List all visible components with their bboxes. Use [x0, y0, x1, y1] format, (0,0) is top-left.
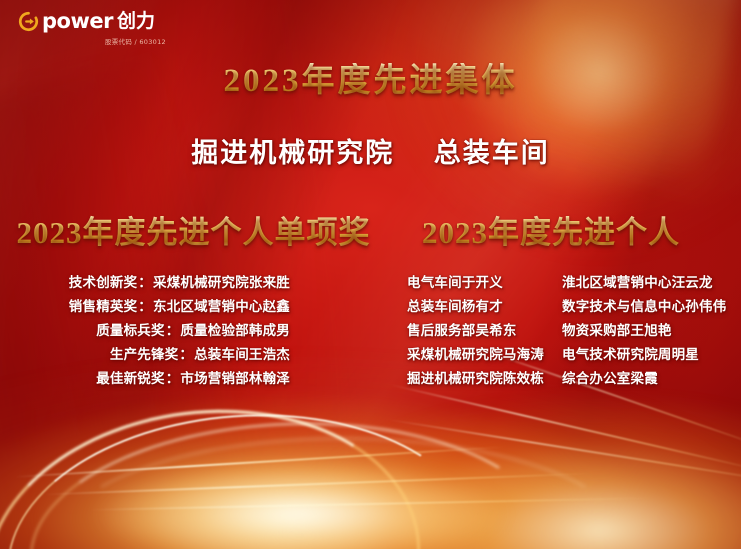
award-name: 生产先锋奖	[110, 347, 179, 362]
separator: ：	[166, 371, 180, 386]
separator: ：	[179, 347, 193, 362]
award-name: 质量标兵奖	[96, 323, 165, 338]
recipient-left: 电气车间于开义	[407, 272, 562, 294]
special-awards-heading: 2023年度先进个人单项奖	[0, 214, 395, 251]
list-item: 销售精英奖：东北区域营销中心赵鑫	[0, 296, 395, 318]
advanced-individuals-heading: 2023年度先进个人	[395, 214, 741, 251]
award-name: 销售精英奖	[69, 299, 138, 314]
collective-winners: 掘进机械研究院 总装车间	[0, 138, 741, 169]
stock-code: 股票代码 / 603012	[18, 36, 168, 46]
separator: ：	[138, 275, 152, 290]
list-item: 售后服务部吴希东 物资采购部王旭艳	[395, 320, 741, 342]
award-recipient: 总装车间王浩杰	[194, 347, 290, 362]
award-recipient: 市场营销部林翰泽	[180, 371, 290, 386]
list-item: 生产先锋奖：总装车间王浩杰	[0, 344, 395, 366]
c-power-arrow-icon	[18, 11, 39, 32]
award-name: 最佳新锐奖	[96, 371, 165, 386]
recipient-left: 掘进机械研究院陈效栋	[407, 368, 562, 390]
separator: ：	[166, 323, 180, 338]
award-recipient: 质量检验部韩成男	[180, 323, 290, 338]
logo-wordmark-cn: 创力	[117, 12, 155, 31]
award-recipient: 采煤机械研究院张来胜	[153, 275, 290, 290]
collective-winner-1: 掘进机械研究院	[191, 138, 394, 168]
advanced-individuals-list: 电气车间于开义 淮北区域营销中心汪云龙 总装车间杨有才 数字技术与信息中心孙伟伟…	[395, 272, 741, 389]
list-item: 电气车间于开义 淮北区域营销中心汪云龙	[395, 272, 741, 294]
recipient-left: 采煤机械研究院马海涛	[407, 344, 562, 366]
special-awards-list: 技术创新奖：采煤机械研究院张来胜 销售精英奖：东北区域营销中心赵鑫 质量标兵奖：…	[0, 272, 395, 389]
recipient-right: 数字技术与信息中心孙伟伟	[562, 296, 726, 318]
collective-winner-2: 总装车间	[434, 138, 550, 168]
list-item: 技术创新奖：采煤机械研究院张来胜	[0, 272, 395, 294]
special-awards-column: 2023年度先进个人单项奖 技术创新奖：采煤机械研究院张来胜 销售精英奖：东北区…	[0, 214, 395, 389]
list-item: 采煤机械研究院马海涛 电气技术研究院周明星	[395, 344, 741, 366]
list-item: 总装车间杨有才 数字技术与信息中心孙伟伟	[395, 296, 741, 318]
separator: ：	[138, 299, 152, 314]
page-title: 2023年度先进集体	[0, 63, 741, 101]
recipient-right: 电气技术研究院周明星	[562, 344, 699, 366]
recipient-right: 淮北区域营销中心汪云龙	[562, 272, 713, 294]
recipient-right: 综合办公室梁霞	[562, 368, 658, 390]
recipient-right: 物资采购部王旭艳	[562, 320, 672, 342]
list-item: 最佳新锐奖：市场营销部林翰泽	[0, 368, 395, 390]
advanced-individuals-column: 2023年度先进个人 电气车间于开义 淮北区域营销中心汪云龙 总装车间杨有才 数…	[395, 214, 741, 389]
list-item: 质量标兵奖：质量检验部韩成男	[0, 320, 395, 342]
swoosh-core-light	[59, 439, 593, 549]
awards-section: 2023年度先进个人单项奖 技术创新奖：采煤机械研究院张来胜 销售精英奖：东北区…	[0, 214, 741, 389]
award-poster: power 创力 股票代码 / 603012 2023年度先进集体 掘进机械研究…	[0, 0, 741, 549]
award-recipient: 东北区域营销中心赵鑫	[153, 299, 290, 314]
list-item: 掘进机械研究院陈效栋 综合办公室梁霞	[395, 368, 741, 390]
company-logo: power 创力 股票代码 / 603012	[18, 11, 168, 46]
recipient-left: 售后服务部吴希东	[407, 320, 562, 342]
award-name: 技术创新奖	[69, 275, 138, 290]
logo-wordmark: power	[42, 11, 113, 32]
recipient-left: 总装车间杨有才	[407, 296, 562, 318]
